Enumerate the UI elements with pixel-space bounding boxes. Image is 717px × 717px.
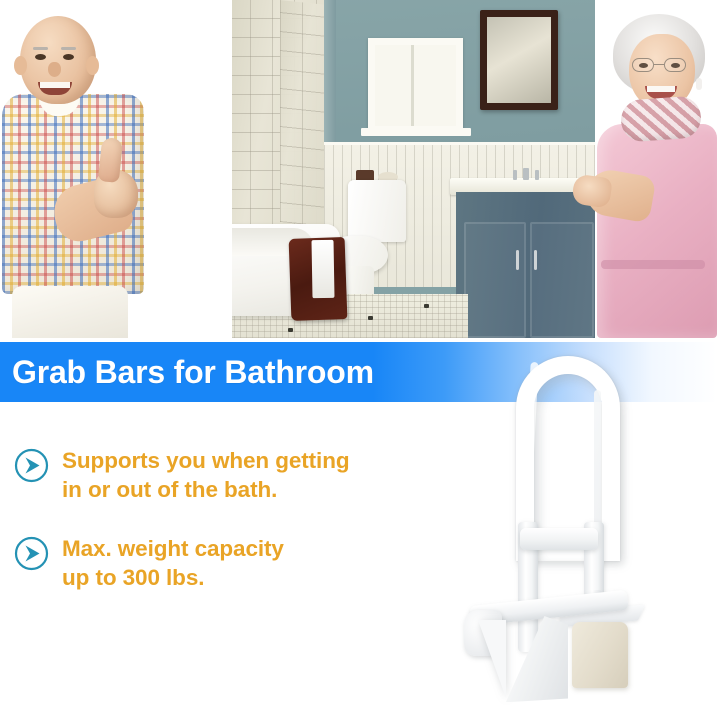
toilet-tank (348, 180, 406, 242)
man-ear-left (14, 56, 27, 75)
feature-line: Supports you when getting (62, 446, 349, 475)
sink-faucet (513, 168, 539, 180)
clamp-wedge-left (478, 620, 506, 698)
product-image-grab-bar (462, 352, 717, 702)
hero-photo (0, 0, 717, 338)
bathroom-window (368, 38, 463, 133)
woman-earring (696, 78, 702, 90)
man-eye-right (63, 54, 74, 60)
feature-list: Supports you when getting in or out of t… (14, 446, 434, 621)
feature-line: in or out of the bath. (62, 475, 349, 504)
man-ear-right (86, 56, 99, 75)
feature-item-support: Supports you when getting in or out of t… (14, 446, 434, 505)
man-nose (48, 62, 61, 77)
man-eye-left (35, 54, 46, 60)
vanity-door-right (530, 222, 594, 338)
woman-belt (601, 260, 705, 269)
clamp-rubber-pad (572, 622, 628, 688)
woman-pink-shirt (597, 124, 717, 338)
feature-text-support: Supports you when getting in or out of t… (62, 446, 349, 505)
vanity-door-left (464, 222, 526, 338)
vanity-handle-right (534, 250, 537, 270)
man-brow-right (61, 47, 76, 50)
window-sill (361, 128, 471, 136)
tub-tile-surround-side (280, 0, 326, 227)
eyeglasses-icon (632, 58, 694, 73)
elderly-man-photo (2, 16, 144, 338)
man-pants (12, 286, 128, 338)
vanity-handle-left (516, 250, 519, 270)
man-brow-left (33, 47, 48, 50)
feature-item-capacity: Max. weight capacity up to 300 lbs. (14, 534, 434, 593)
feature-line: Max. weight capacity (62, 534, 284, 563)
page-title: Grab Bars for Bathroom (12, 354, 374, 391)
white-towel (311, 240, 334, 298)
feature-line: up to 300 lbs. (62, 563, 284, 592)
feature-text-capacity: Max. weight capacity up to 300 lbs. (62, 534, 284, 593)
chevron-right-circle-icon (14, 448, 49, 483)
vanity-cabinet (456, 192, 600, 338)
chevron-right-circle-icon (14, 536, 49, 571)
elderly-woman-photo (589, 14, 717, 338)
mirror-cabinet (480, 10, 558, 110)
bathroom-scene-image (228, 0, 600, 338)
grab-bar-crossbrace (520, 528, 598, 550)
woman-scarf (620, 95, 703, 142)
